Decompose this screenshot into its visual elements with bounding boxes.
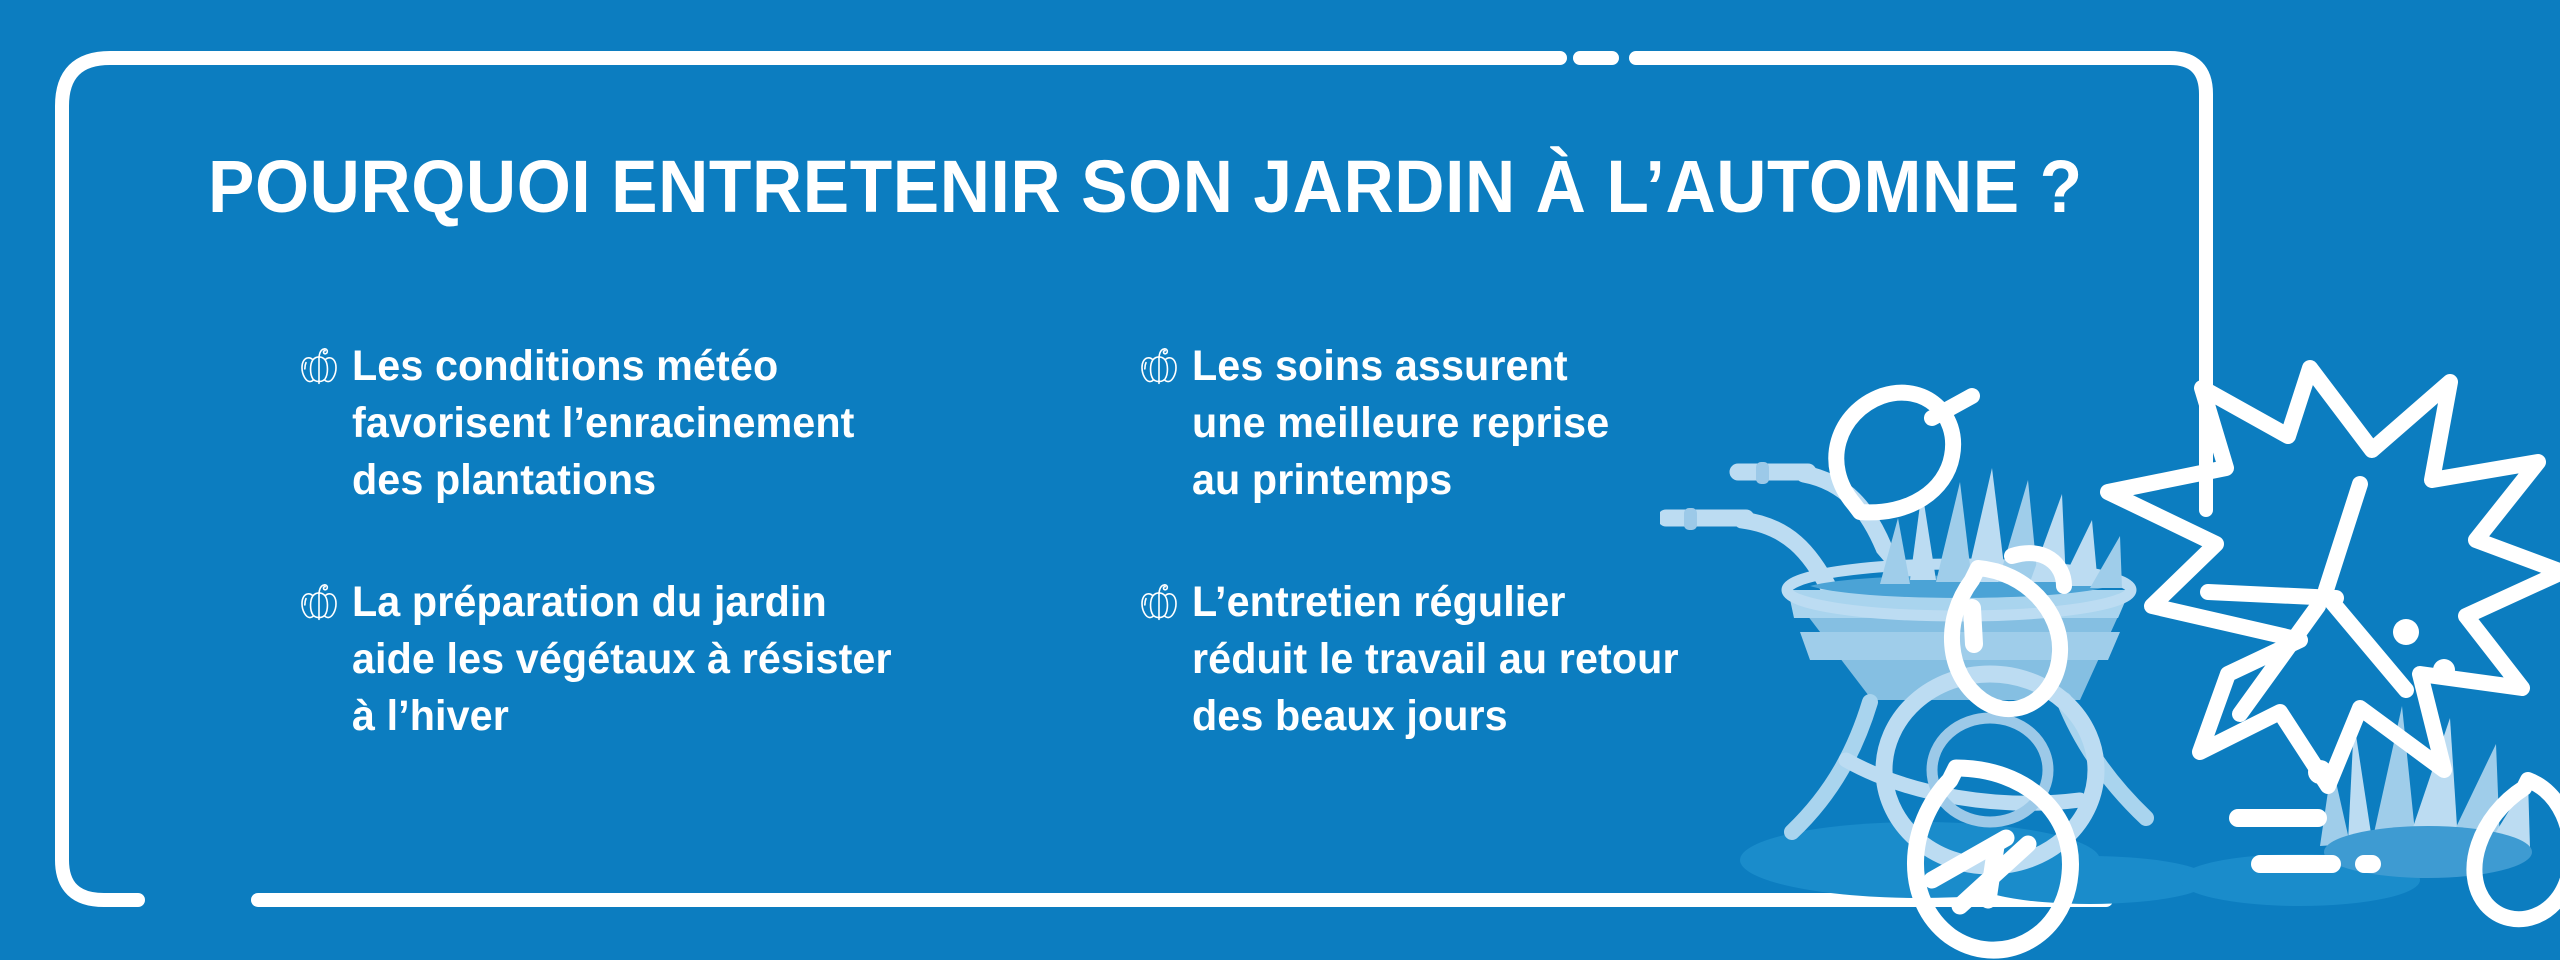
list-item: L’entretien régulier réduit le travail a… (1140, 574, 1980, 744)
list-item: Les soins assurent une meilleure reprise… (1140, 338, 1980, 508)
list-item-label: Les conditions météo favorisent l’enraci… (352, 338, 855, 508)
pumpkin-icon (1140, 344, 1178, 386)
list-item: Les conditions météo favorisent l’enraci… (300, 338, 1140, 508)
pumpkin-icon (300, 580, 338, 622)
list-item-label: La préparation du jardin aide les végéta… (352, 574, 892, 744)
pumpkin-icon (1140, 580, 1178, 622)
list-item: La préparation du jardin aide les végéta… (300, 574, 1140, 744)
pumpkin-icon (300, 344, 338, 386)
banner-content: POURQUOI ENTRETENIR SON JARDIN À L’AUTOM… (0, 0, 2560, 960)
bullet-columns: Les conditions météo favorisent l’enraci… (300, 338, 2000, 745)
page-title: POURQUOI ENTRETENIR SON JARDIN À L’AUTOM… (208, 150, 2323, 224)
list-item-label: L’entretien régulier réduit le travail a… (1192, 574, 1679, 744)
list-item-label: Les soins assurent une meilleure reprise… (1192, 338, 1609, 508)
bullet-column-left: Les conditions météo favorisent l’enraci… (300, 338, 1140, 745)
banner-root: POURQUOI ENTRETENIR SON JARDIN À L’AUTOM… (0, 0, 2560, 960)
bullet-column-right: Les soins assurent une meilleure reprise… (1140, 338, 1980, 745)
